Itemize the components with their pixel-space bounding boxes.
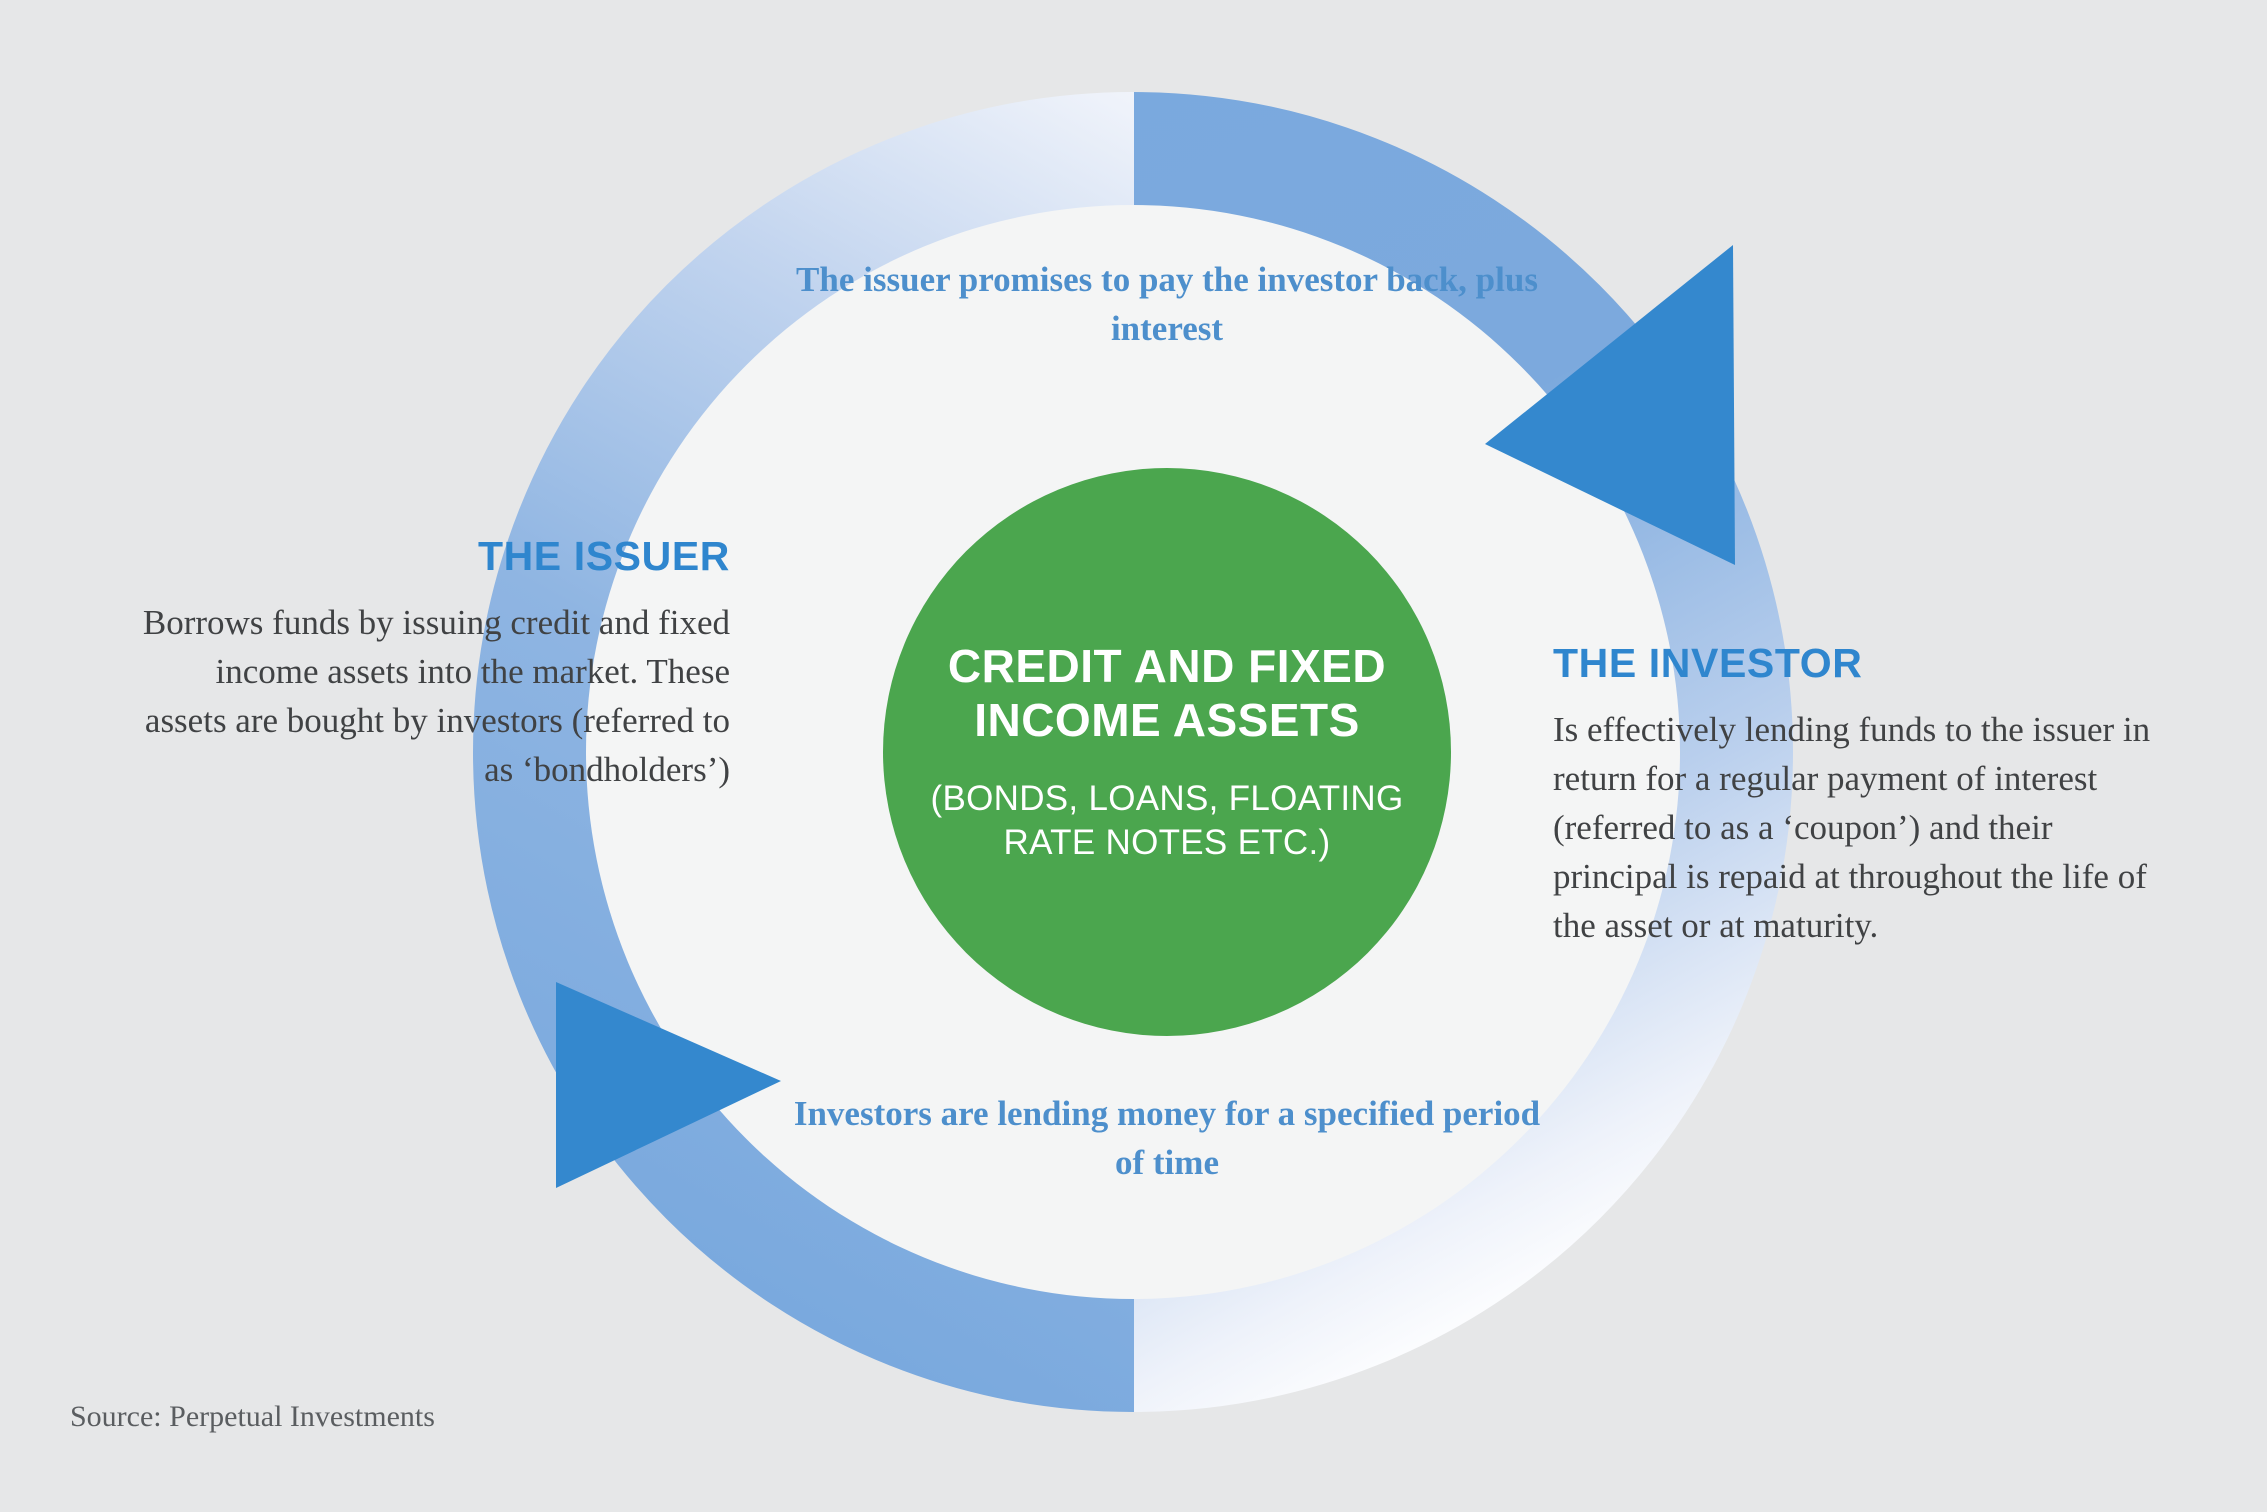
core-subtitle: (BONDS, LOANS, FLOATING RATE NOTES ETC.): [927, 777, 1407, 864]
issuer-block: THE ISSUER Borrows funds by issuing cred…: [130, 533, 730, 794]
caption-issuer-promise: The issuer promises to pay the investor …: [787, 255, 1547, 353]
core-circle: CREDIT AND FIXED INCOME ASSETS (BONDS, L…: [883, 468, 1451, 1036]
issuer-body: Borrows funds by issuing credit and fixe…: [130, 598, 730, 794]
caption-investor-lending: Investors are lending money for a specif…: [787, 1089, 1547, 1187]
investor-heading: THE INVESTOR: [1553, 640, 2153, 687]
investor-body: Is effectively lending funds to the issu…: [1553, 705, 2153, 950]
source-note: Source: Perpetual Investments: [70, 1400, 435, 1434]
infographic-canvas: CREDIT AND FIXED INCOME ASSETS (BONDS, L…: [0, 0, 2267, 1512]
core-title: CREDIT AND FIXED INCOME ASSETS: [927, 640, 1407, 748]
issuer-heading: THE ISSUER: [130, 533, 730, 580]
investor-block: THE INVESTOR Is effectively lending fund…: [1553, 640, 2153, 950]
